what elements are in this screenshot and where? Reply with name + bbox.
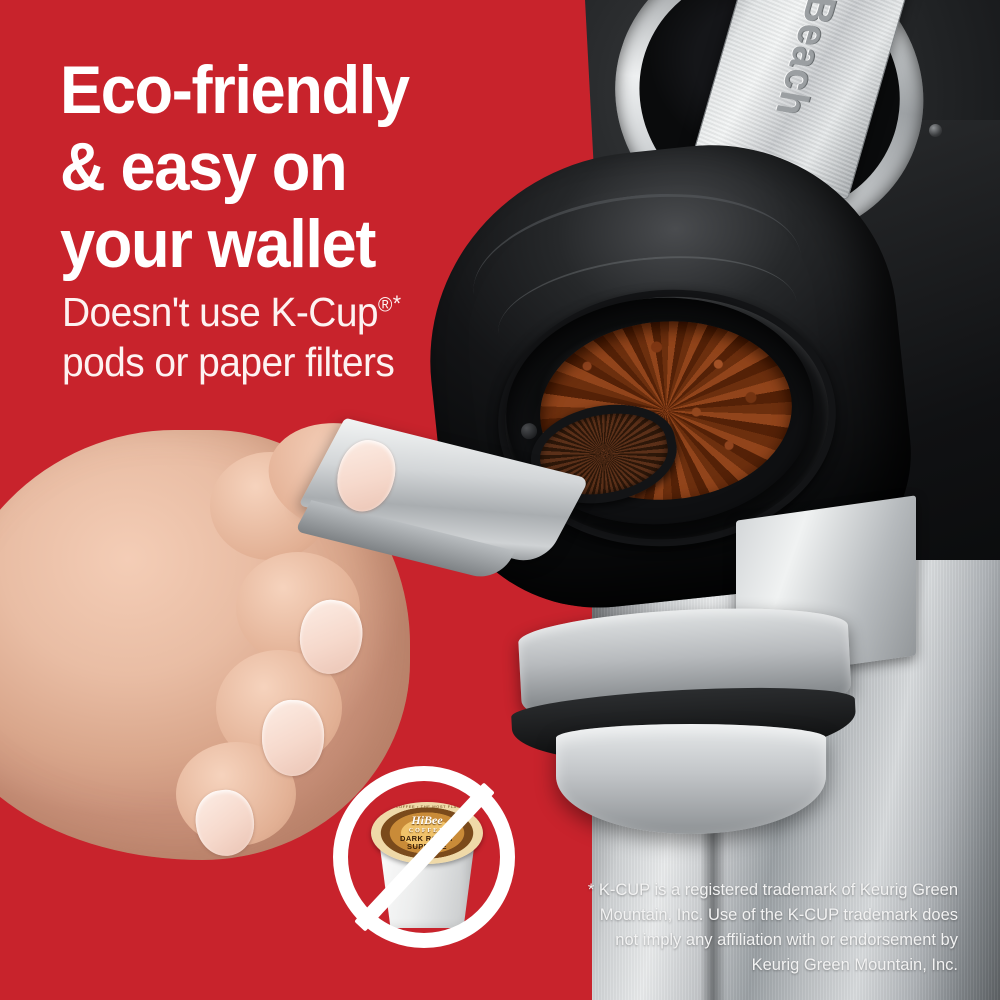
headline: Eco-friendly & easy on your wallet — [60, 52, 497, 283]
no-kcup-pods-badge: FANCY COFFEE • THE MOST FLAVORFUL HiBeeC… — [333, 766, 521, 958]
brand-emboss-text: Beach — [766, 0, 845, 120]
headline-line-2: & easy on — [60, 129, 497, 206]
subhead-line-1: Doesn't use K-Cup®* — [62, 287, 509, 337]
trademark-footnote: * K-CUP is a registered trademark of Keu… — [548, 878, 958, 978]
headline-line-3: your wallet — [60, 206, 497, 283]
headline-line-1: Eco-friendly — [60, 52, 497, 129]
footnote-asterisk-marker: * — [393, 291, 401, 316]
subhead-line-2: pods or paper filters — [62, 337, 509, 387]
subhead-line-1-text: Doesn't use K-Cup — [62, 289, 378, 335]
mesh-filter-pivot — [521, 423, 538, 440]
promo-image: Beach Eco-friendly & easy on — [0, 0, 1000, 1000]
registered-mark: ® — [378, 293, 392, 316]
footnote-line-1: * K-CUP is a registered trademark of Keu… — [548, 878, 958, 903]
footnote-line-4: Keurig Green Mountain, Inc. — [548, 953, 958, 978]
footnote-line-3: not imply any affiliation with or endors… — [548, 928, 958, 953]
footnote-line-2: Mountain, Inc. Use of the K-CUP trademar… — [548, 903, 958, 928]
subhead: Doesn't use K-Cup®* pods or paper filter… — [62, 287, 509, 387]
